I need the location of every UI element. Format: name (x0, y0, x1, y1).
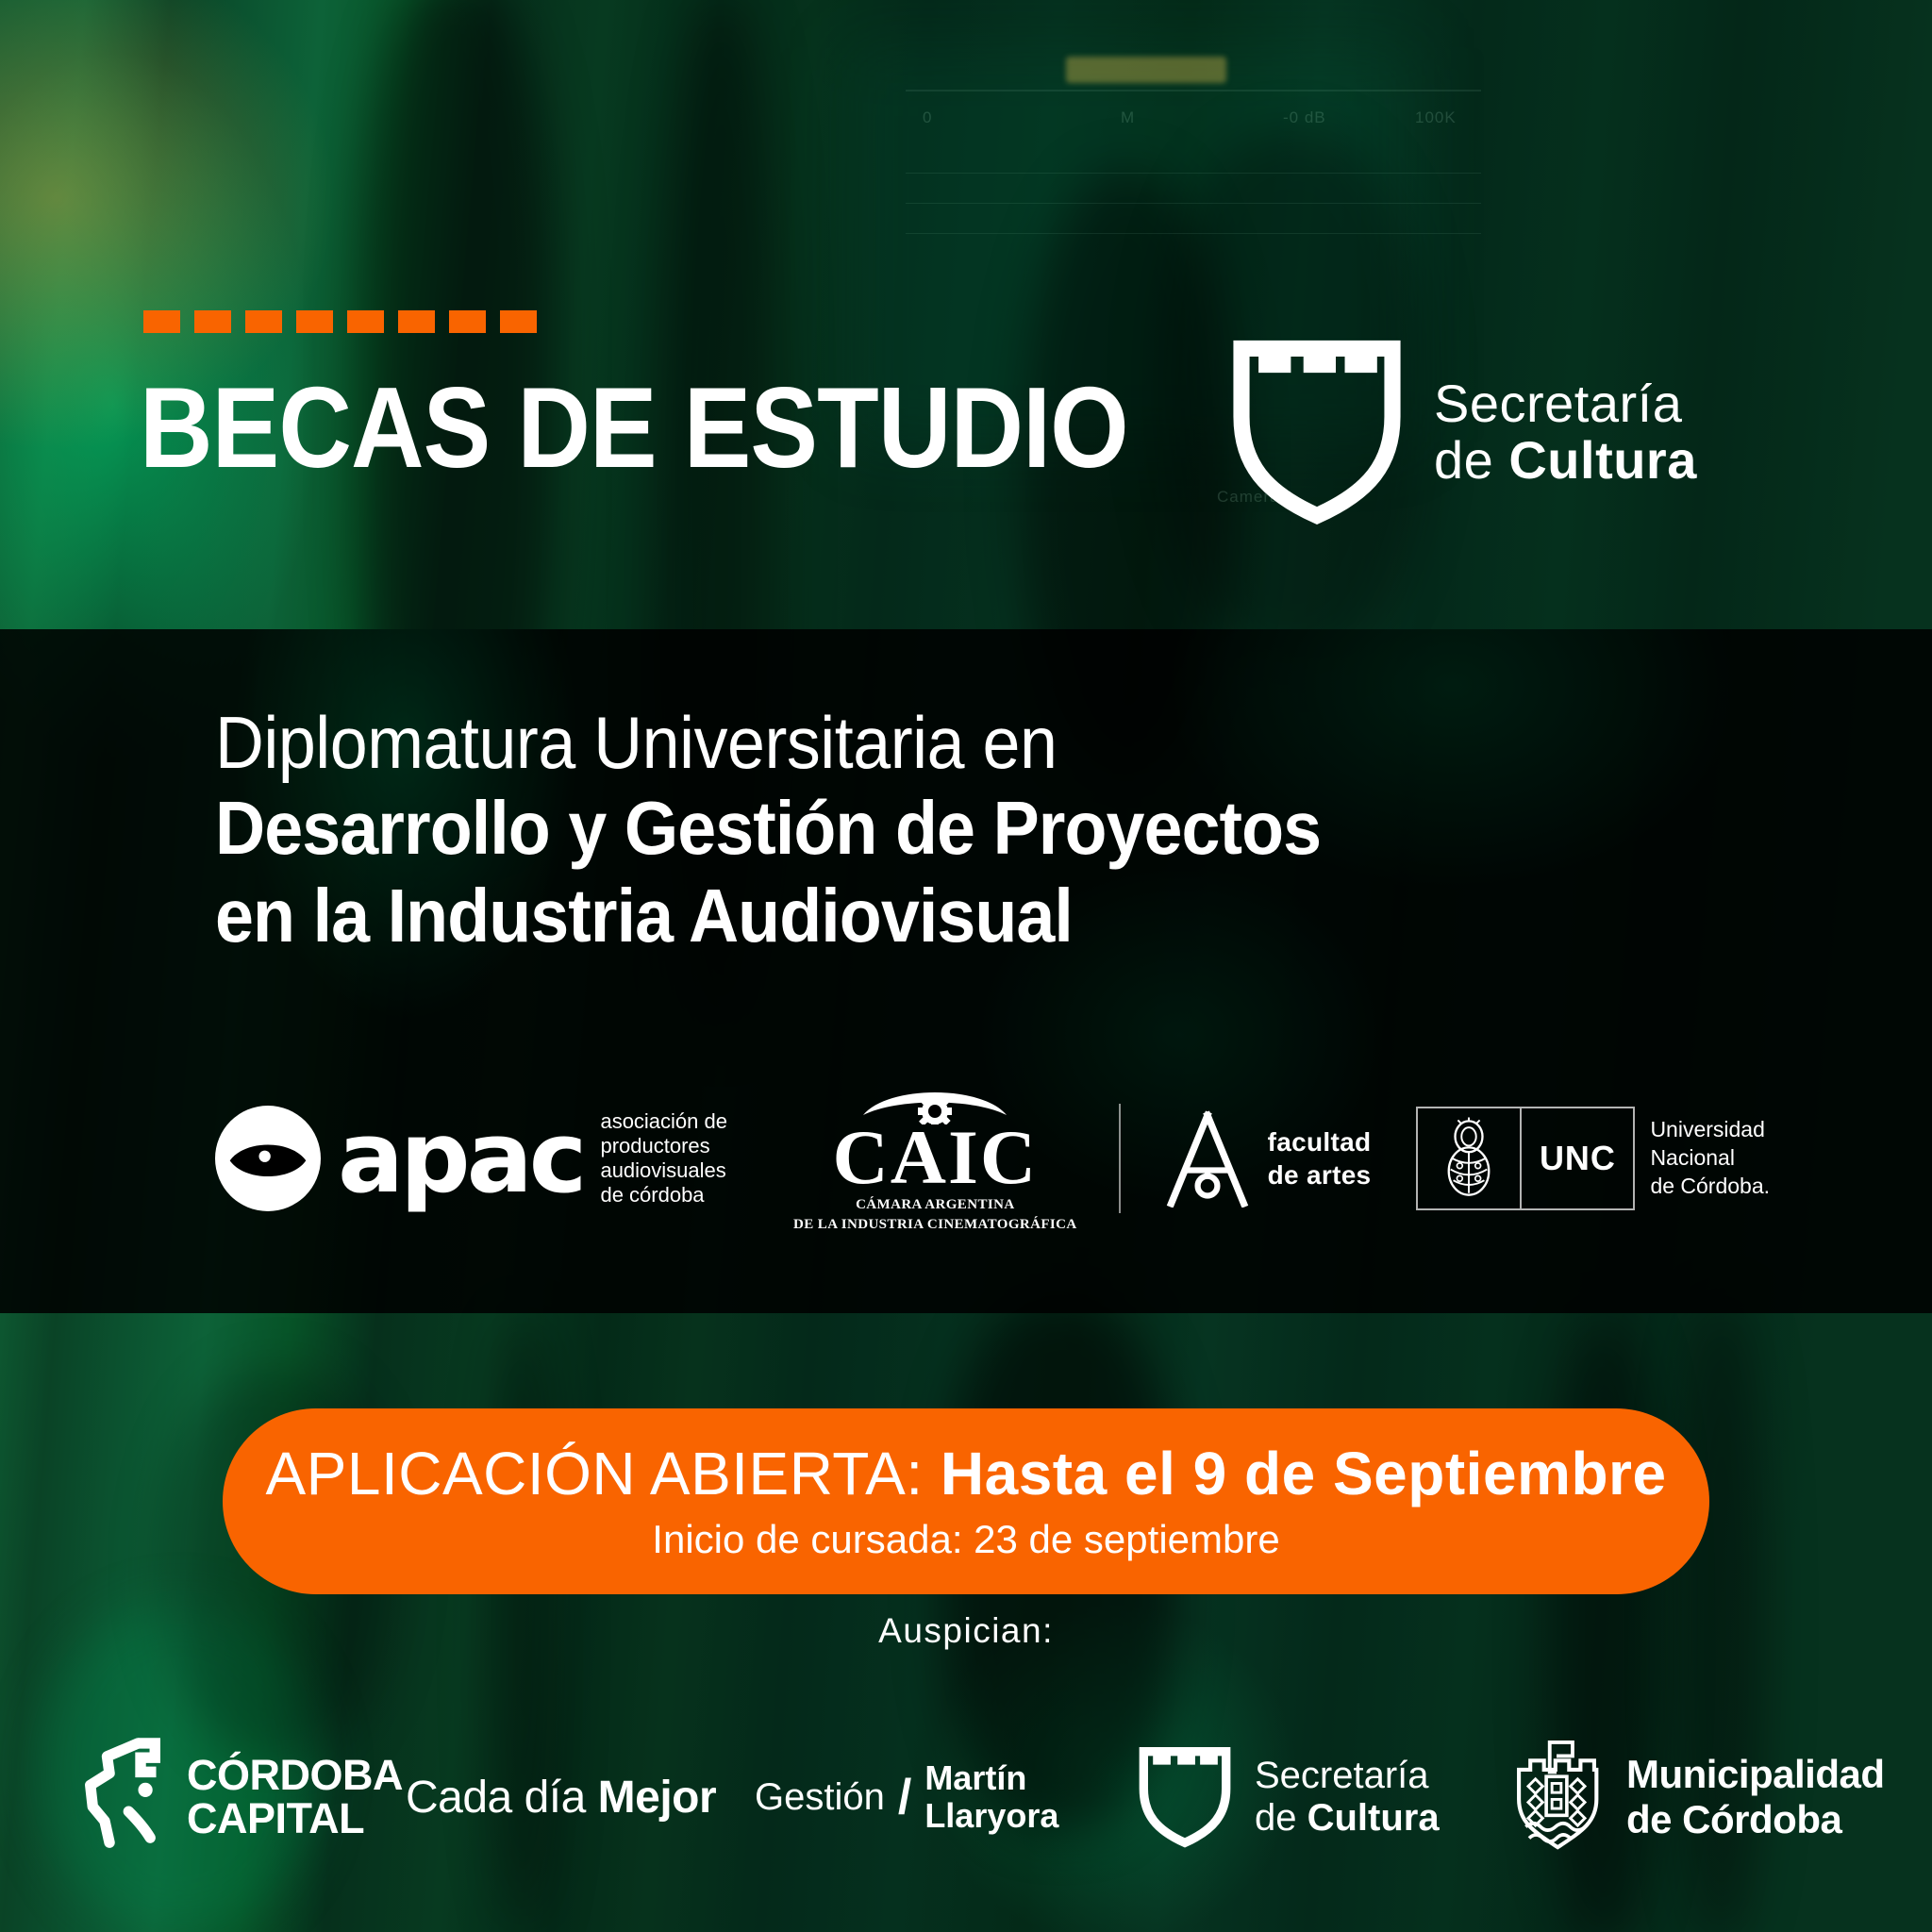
unc-fullname: Universidad Nacional de Córdoba. (1650, 1116, 1770, 1201)
facultad-de-artes-logo: facultad de artes (1162, 1109, 1372, 1207)
auspician-label: Auspician: (0, 1611, 1932, 1651)
partner-logo-row: apac asociación de productores audiovisu… (215, 1083, 1770, 1233)
cordoba-capital-line2: CAPITAL (187, 1797, 403, 1840)
apac-sub-3: audiovisuales (600, 1158, 727, 1183)
gestion-label: Gestión (755, 1776, 885, 1819)
monitor-label-db: -0 dB (1283, 108, 1326, 127)
secretaria-cultura-logo-hero: Secretaría de Cultura (1226, 338, 1697, 526)
caic-wordmark: CAIC (793, 1121, 1077, 1194)
dash-segment (500, 310, 537, 333)
dash-segment (245, 310, 282, 333)
facultad-artes-a-icon (1162, 1109, 1253, 1207)
municipalidad-logo: Municipalidad de Córdoba (1507, 1737, 1885, 1857)
secretaria-line2: de Cultura (1434, 432, 1697, 489)
application-cta-banner[interactable]: APLICACIÓN ABIERTA: Hasta el 9 de Septie… (223, 1408, 1709, 1594)
caic-sub-2: DE LA INDUSTRIA CINEMATOGRÁFICA (793, 1216, 1077, 1234)
cordoba-capital-line1: CÓRDOBA (187, 1754, 403, 1797)
dash-segment (449, 310, 486, 333)
cultura-shield-icon (1226, 338, 1407, 526)
secretaria-line1: Secretaría (1434, 375, 1697, 432)
municipalidad-line1: Municipalidad (1626, 1752, 1885, 1797)
apac-eye-icon (215, 1106, 321, 1211)
gestion-slash: / (898, 1769, 911, 1825)
cultura-footer-line1: Secretaría (1255, 1755, 1440, 1797)
apac-sub-2: productores (600, 1134, 727, 1158)
cta-headline: APLICACIÓN ABIERTA: Hasta el 9 de Septie… (265, 1441, 1666, 1507)
facultad-artes-text: facultad de artes (1268, 1125, 1372, 1191)
page-title: BECAS DE ESTUDIO (140, 370, 1128, 485)
cta-start-date: Inicio de cursada: 23 de septiembre (652, 1517, 1279, 1562)
unc-line-1: Universidad (1650, 1116, 1770, 1144)
slogan-prefix: Cada día (406, 1773, 598, 1823)
course-line-3: en la Industria Audiovisual (215, 873, 1321, 960)
monitor-label-100k: 100K (1415, 108, 1457, 127)
course-line-2: Desarrollo y Gestión de Proyectos (215, 785, 1321, 873)
course-line-1: Diplomatura Universitaria en (215, 700, 1321, 785)
unc-crest-icon (1418, 1108, 1520, 1208)
apac-wordmark: apac (338, 1119, 583, 1197)
secretaria-cultura-logo-footer: Secretaría de Cultura (1136, 1745, 1440, 1849)
artes-line-1: facultad (1268, 1125, 1372, 1158)
apac-sub-1: asociación de (600, 1109, 727, 1134)
unc-line-2: Nacional (1650, 1144, 1770, 1173)
orange-dash-decoration (143, 310, 537, 333)
cultura-shield-icon-footer (1136, 1745, 1234, 1849)
cta-label: APLICACIÓN ABIERTA: (265, 1440, 940, 1507)
poster-root: 0 M -0 dB 100K Camera 1 BECAS DE ESTUDIO… (0, 0, 1932, 1932)
unc-logo: UNC Universidad Nacional de Córdoba. (1416, 1107, 1770, 1210)
dash-segment (143, 310, 180, 333)
unc-box: UNC (1416, 1107, 1635, 1210)
course-title-block: Diplomatura Universitaria en Desarrollo … (215, 700, 1417, 960)
monitor-label-0: 0 (923, 108, 932, 127)
background-highlight-bar (1066, 57, 1226, 83)
dash-segment (296, 310, 333, 333)
cordoba-capital-text: CÓRDOBA CAPITAL (187, 1754, 403, 1840)
dash-segment (194, 310, 231, 333)
unc-line-3: de Córdoba. (1650, 1173, 1770, 1201)
secretaria-cultura-text: Secretaría de Cultura (1434, 375, 1697, 490)
monitor-label-m: M (1121, 108, 1135, 127)
logo-divider (1119, 1104, 1121, 1213)
apac-logo: apac asociación de productores audiovisu… (215, 1106, 727, 1211)
municipalidad-line2: de Córdoba (1626, 1797, 1885, 1842)
municipalidad-crest-icon (1507, 1737, 1606, 1857)
gestion-logo: Gestión / Martín Llaryora (755, 1759, 1058, 1834)
dash-segment (398, 310, 435, 333)
dash-segment (347, 310, 384, 333)
apac-sub-4: de córdoba (600, 1183, 727, 1207)
cultura-footer-text: Secretaría de Cultura (1255, 1755, 1440, 1840)
gestion-name-line1: Martín (924, 1759, 1058, 1797)
gestion-name-line2: Llaryora (924, 1797, 1058, 1835)
artes-line-2: de artes (1268, 1158, 1372, 1191)
cordoba-capital-icon (74, 1737, 172, 1857)
caic-logo: CAIC CÁMARA ARGENTINA DE LA INDUSTRIA CI… (793, 1083, 1077, 1233)
slogan-bold: Mejor (598, 1773, 717, 1823)
cta-deadline: Hasta el 9 de Septiembre (941, 1440, 1667, 1507)
gestion-name: Martín Llaryora (924, 1759, 1058, 1834)
municipalidad-text: Municipalidad de Córdoba (1626, 1752, 1885, 1842)
cordoba-capital-logo: CÓRDOBA CAPITAL (74, 1737, 403, 1857)
unc-abbr: UNC (1522, 1108, 1633, 1208)
sponsor-footer: CÓRDOBA CAPITAL Cada día Mejor Gestión /… (0, 1717, 1932, 1877)
apac-subtitle: asociación de productores audiovisuales … (600, 1109, 727, 1207)
city-slogan: Cada día Mejor (406, 1772, 716, 1824)
cultura-footer-line2: de Cultura (1255, 1797, 1440, 1840)
